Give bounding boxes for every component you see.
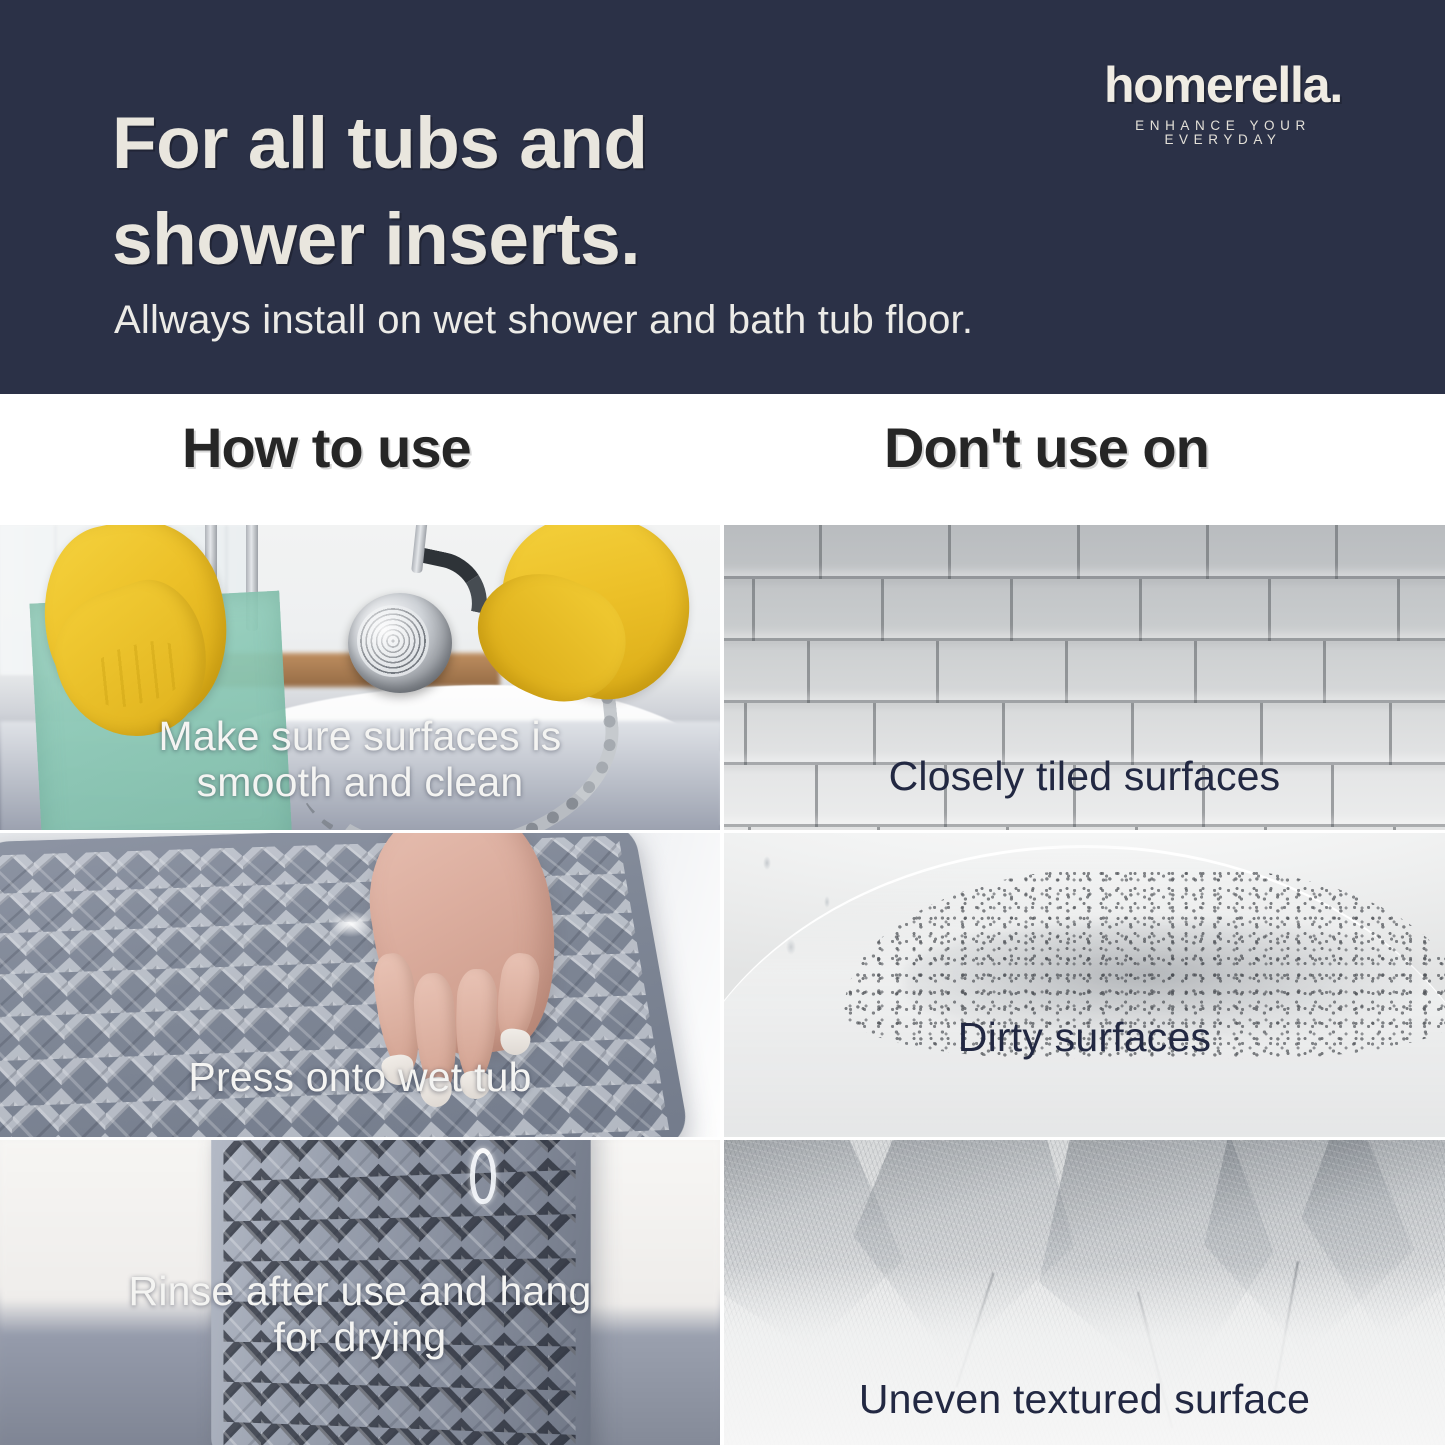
section-titles-row: How to use Don't use on: [0, 394, 1445, 525]
warning-cell-uneven-surface: Uneven textured surface: [724, 1140, 1445, 1445]
warning-caption: Closely tiled surfaces: [724, 754, 1445, 800]
header-band: For all tubs and shower inserts. Allways…: [0, 0, 1445, 394]
warning-cell-dirty-surfaces: Dirty surfaces: [724, 833, 1445, 1137]
brand-name: homerella.: [1073, 60, 1373, 110]
instruction-photo-grid: Make sure surfaces is smooth and clean: [0, 525, 1445, 1445]
step-caption: Make sure surfaces is smooth and clean: [0, 714, 720, 806]
section-title-dont-use-on: Don't use on: [884, 420, 1209, 476]
page-title: For all tubs and shower inserts.: [112, 96, 892, 289]
step-caption: Press onto wet tub: [0, 1055, 720, 1101]
product-instruction-infographic: For all tubs and shower inserts. Allways…: [0, 0, 1445, 1445]
brand-logo: homerella. ENHANCE YOUR EVERYDAY: [1073, 60, 1373, 146]
header-subtitle: Allways install on wet shower and bath t…: [114, 296, 1264, 344]
warning-cell-tiled-surfaces: Closely tiled surfaces: [724, 525, 1445, 830]
tile-row: [724, 579, 1445, 641]
tile-row: [724, 827, 1445, 830]
tile-row: [724, 525, 1445, 579]
showerhead-icon: [348, 593, 452, 693]
water-droplet-highlight: [330, 911, 372, 937]
warning-caption: Uneven textured surface: [724, 1377, 1445, 1423]
suction-hook-icon: [470, 1148, 496, 1204]
step-cell-press-onto-tub: Press onto wet tub: [0, 833, 720, 1137]
brand-tagline: ENHANCE YOUR EVERYDAY: [1073, 119, 1373, 146]
photo-dirty-tub-surface: [724, 833, 1445, 1137]
step-cell-clean-surface: Make sure surfaces is smooth and clean: [0, 525, 720, 830]
section-title-how-to-use: How to use: [182, 420, 471, 476]
step-cell-rinse-and-hang: Rinse after use and hang for drying: [0, 1140, 720, 1445]
warning-caption: Dirty surfaces: [724, 1015, 1445, 1061]
headline-line-1: For all tubs and: [112, 96, 892, 192]
step-caption: Rinse after use and hang for drying: [0, 1269, 720, 1361]
headline-line-2: shower inserts.: [112, 192, 892, 288]
water-droplets: [734, 839, 884, 989]
tile-row: [724, 641, 1445, 703]
